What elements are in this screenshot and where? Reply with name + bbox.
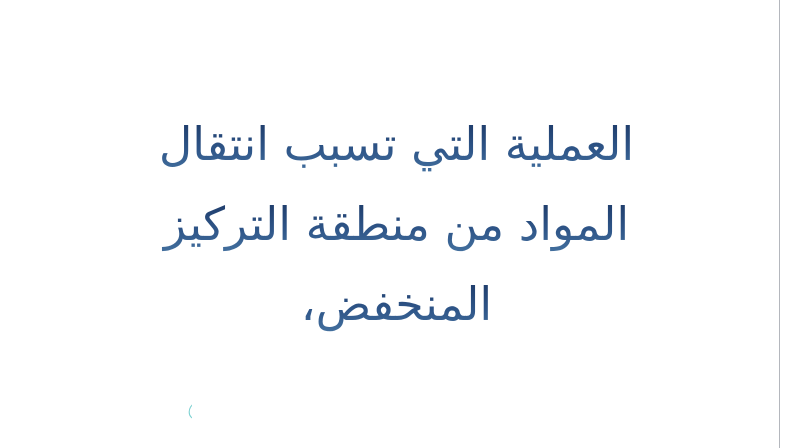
headline-line-1: العملية التي تسبب انتقال	[0, 104, 793, 184]
brand-logo-text: موسوعة	[186, 366, 192, 435]
headline-line-2: المواد من منطقة التركيز	[0, 184, 793, 264]
brand-logo: موسوعة	[12, 362, 192, 438]
headline-line-3: المنخفض،	[0, 264, 793, 344]
slide-canvas: العملية التي تسبب انتقال المواد من منطقة…	[0, 0, 793, 448]
mawsoua-wordmark-logo: موسوعة	[12, 362, 192, 438]
page-title: العملية التي تسبب انتقال المواد من منطقة…	[0, 104, 793, 344]
